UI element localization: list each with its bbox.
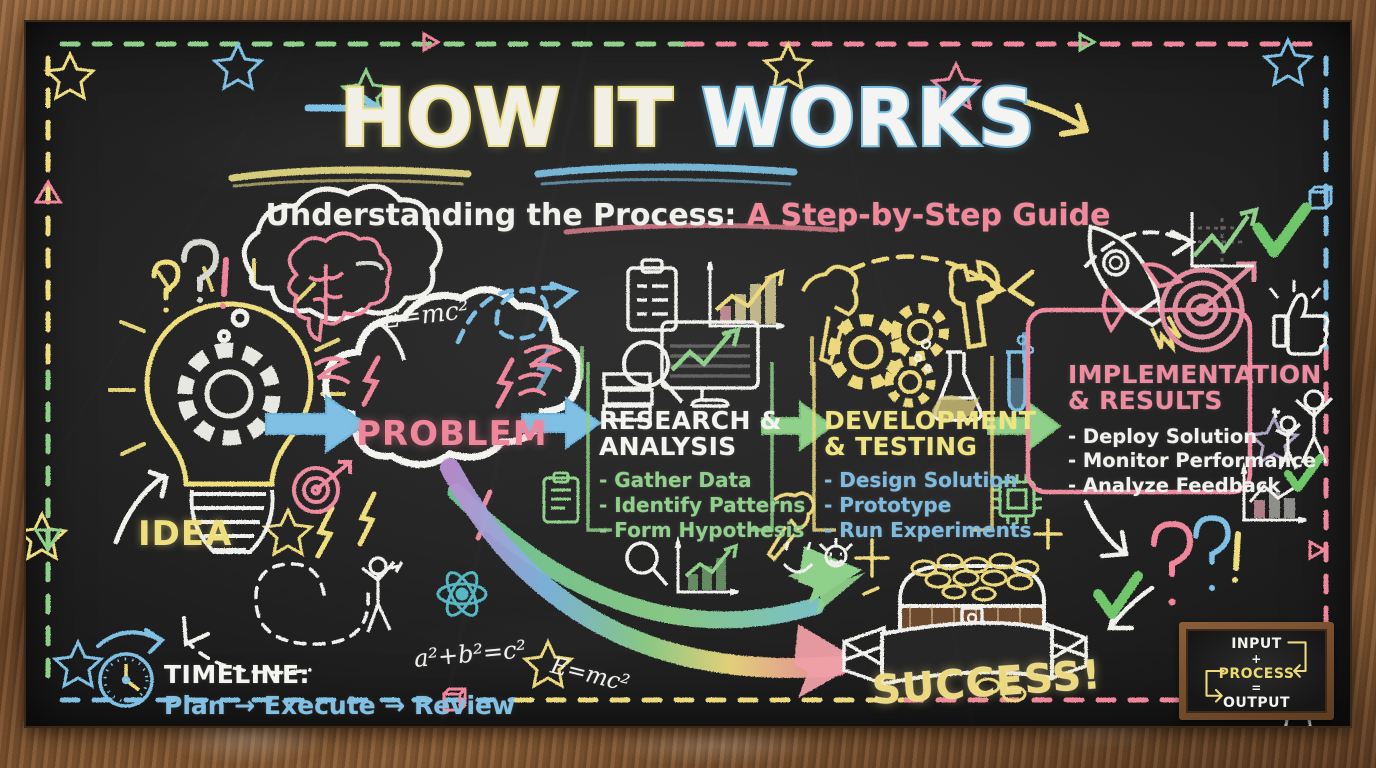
page-subtitle: Understanding the Process: A Step-by-Ste… [26, 198, 1350, 233]
step-implementation-title: IMPLEMENTATION & RESULTS [1068, 362, 1283, 413]
step-development-testing: DEVELOPMENT & TESTING - Design Solution … [824, 408, 1024, 543]
list-item: - Prototype [824, 493, 1024, 518]
page-title: HOW IT WORKS [26, 80, 1350, 158]
mini-board-arrows [1188, 631, 1325, 711]
list-item: - Form Hypothesis [599, 518, 799, 543]
timeline-block: TIMELINE: Plan → Execute → Review [164, 660, 515, 720]
step-research-title: RESEARCH & ANALYSIS [599, 408, 799, 459]
mini-chalkboard: INPUT + PROCESS = OUTPUT [1179, 622, 1334, 720]
subtitle-main: Understanding the Process: [265, 198, 746, 233]
list-item: - Identify Patterns [599, 493, 799, 518]
title-part-two: WORKS [702, 74, 1036, 164]
step-implementation-bullets: - Deploy Solution - Monitor Performance … [1068, 425, 1283, 498]
step-development-bullets: - Design Solution - Prototype - Run Expe… [824, 468, 1024, 543]
timeline-steps: Plan → Execute → Review [164, 691, 515, 720]
step-research-bullets: - Gather Data - Identify Patterns - Form… [599, 468, 799, 543]
title-part-one: HOW IT [340, 74, 673, 164]
list-item: - Deploy Solution [1068, 425, 1283, 449]
node-label-problem: PROBLEM [356, 414, 548, 454]
mini-chalkboard-surface: INPUT + PROCESS = OUTPUT [1186, 629, 1327, 713]
list-item: - Design Solution [824, 468, 1024, 493]
node-label-idea: IDEA [138, 514, 232, 554]
list-item: - Run Experiments [824, 518, 1024, 543]
subtitle-accent: A Step-by-Step Guide [747, 198, 1111, 233]
chalkboard-surface: HOW IT WORKS Understanding the Process: … [26, 22, 1350, 726]
step-development-title: DEVELOPMENT & TESTING [824, 408, 1024, 459]
infographic-stage: HOW IT WORKS Understanding the Process: … [0, 0, 1376, 768]
step-research-analysis: RESEARCH & ANALYSIS - Gather Data - Iden… [599, 408, 799, 543]
step-implementation-results: IMPLEMENTATION & RESULTS - Deploy Soluti… [1068, 362, 1283, 498]
list-item: - Gather Data [599, 468, 799, 493]
list-item: - Monitor Performance [1068, 449, 1283, 473]
list-item: - Analyze Feedback [1068, 474, 1283, 498]
